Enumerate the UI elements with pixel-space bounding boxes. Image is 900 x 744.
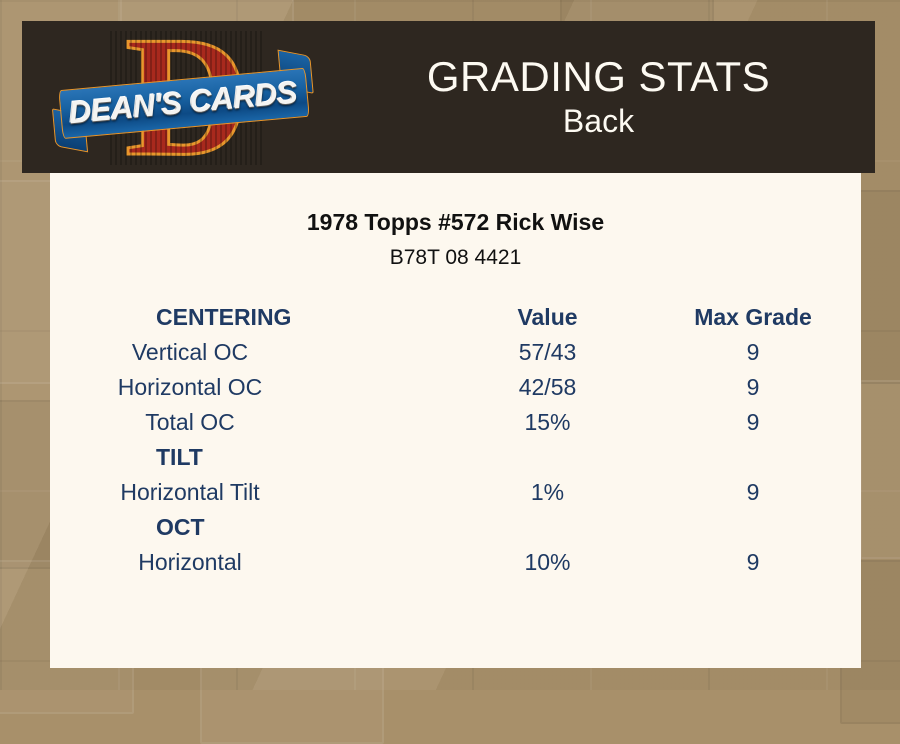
stats-row-grade: 9 [645,335,861,370]
table-row: Horizontal10%9 [50,545,861,580]
table-header-row: CENTERING Value Max Grade [50,300,861,335]
stats-section-label: TILT [50,440,450,475]
stats-row-value: 10% [450,545,645,580]
table-row: Vertical OC57/439 [50,335,861,370]
background-card-decor [200,660,384,744]
table-row: Total OC15%9 [50,405,861,440]
column-header-grade: Max Grade [645,300,861,335]
stats-row-value: 57/43 [450,335,645,370]
stats-row-grade: 9 [645,370,861,405]
content-panel: 1978 Topps #572 Rick Wise B78T 08 4421 C… [50,173,861,668]
stats-section-row: OCT [50,510,861,545]
table-row: Horizontal OC42/589 [50,370,861,405]
background-card-decor [860,380,900,559]
stats-section-spacer [645,510,861,545]
card-title: 1978 Topps #572 Rick Wise [50,209,861,236]
table-row: Horizontal Tilt1%9 [50,475,861,510]
stats-section-row: TILT [50,440,861,475]
stats-section-spacer [450,440,645,475]
deans-cards-logo[interactable]: D DEAN'S CARDS [52,25,314,171]
stats-row-value: 15% [450,405,645,440]
page-header: D DEAN'S CARDS GRADING STATS Back [22,21,875,173]
stats-row-value: 42/58 [450,370,645,405]
stats-table-head: CENTERING Value Max Grade [50,300,861,335]
card-serial: B78T 08 4421 [50,246,861,270]
header-title-group: GRADING STATS Back [322,21,875,173]
logo-wordmark: DEAN'S CARDS [50,63,316,143]
stats-row-label: Total OC [50,405,450,440]
grading-stats-table: CENTERING Value Max Grade Vertical OC57/… [50,300,861,580]
stats-row-label: Vertical OC [50,335,450,370]
stats-row-value: 1% [450,475,645,510]
page-title: GRADING STATS [427,55,770,99]
stats-row-grade: 9 [645,475,861,510]
page-subtitle: Back [563,105,634,139]
stats-section-spacer [645,440,861,475]
stats-table-body: Vertical OC57/439Horizontal OC42/589Tota… [50,335,861,580]
stats-row-label: Horizontal Tilt [50,475,450,510]
column-header-section: CENTERING [50,300,450,335]
stats-row-grade: 9 [645,405,861,440]
logo-ribbon: DEAN'S CARDS [50,63,316,143]
stats-section-spacer [450,510,645,545]
stats-row-label: Horizontal OC [50,370,450,405]
column-header-value: Value [450,300,645,335]
stats-row-label: Horizontal [50,545,450,580]
stats-section-label: OCT [50,510,450,545]
stats-row-grade: 9 [645,545,861,580]
